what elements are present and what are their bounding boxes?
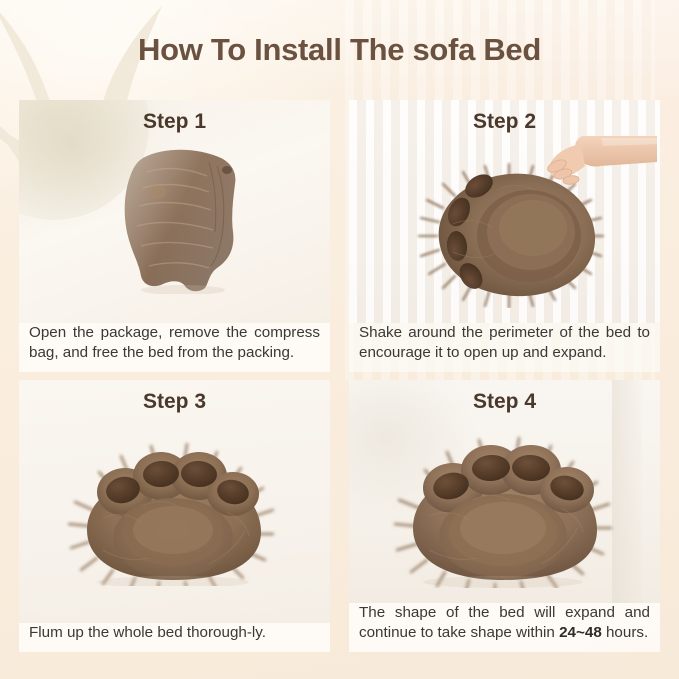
hand-shaking-bed-icon bbox=[405, 128, 660, 308]
step-2-photo: Step 2 bbox=[349, 100, 660, 323]
hand-icon bbox=[546, 136, 657, 185]
step-2-caption: Shake around the perimeter of the bed to… bbox=[349, 323, 660, 372]
step-4-caption: The shape of the bed will expand and con… bbox=[349, 603, 660, 652]
step-4-label: Step 4 bbox=[349, 390, 660, 414]
step-3-photo: Step 3 bbox=[19, 380, 330, 623]
step-4-duration-value: 24~48 bbox=[559, 624, 602, 641]
step-card-1: Step 1 bbox=[19, 100, 330, 372]
steps-grid: Step 1 bbox=[19, 100, 660, 652]
step-1-caption: Open the package, remove the compress ba… bbox=[19, 323, 330, 372]
step-card-4: Step 4 bbox=[349, 380, 660, 652]
step-2-label: Step 2 bbox=[349, 110, 660, 134]
step-card-3: Step 3 bbox=[19, 380, 330, 652]
step-1-photo: Step 1 bbox=[19, 100, 330, 323]
step-3-caption: Flum up the whole bed thorough-ly. bbox=[19, 623, 330, 652]
infographic-page: How To Install The sofa Bed Step 1 bbox=[0, 0, 679, 679]
page-title: How To Install The sofa Bed bbox=[0, 32, 679, 68]
compressed-package-icon bbox=[113, 144, 253, 294]
step-1-label: Step 1 bbox=[19, 110, 330, 134]
step-4-photo: Step 4 bbox=[349, 380, 660, 603]
paw-bed-front-icon bbox=[59, 414, 299, 586]
step-3-label: Step 3 bbox=[19, 390, 330, 414]
step-card-2: Step 2 bbox=[349, 100, 660, 372]
paw-bed-expanded-icon bbox=[383, 408, 631, 588]
step-4-caption-after: hours. bbox=[602, 624, 648, 641]
